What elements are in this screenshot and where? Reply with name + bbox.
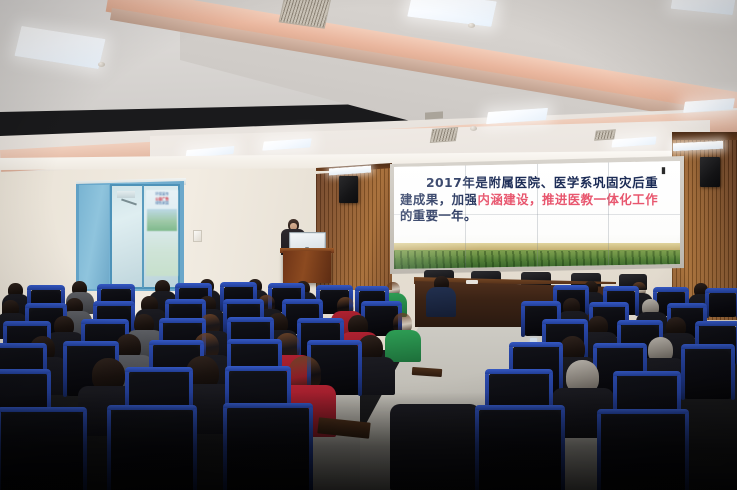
seat-frame-top — [175, 283, 212, 288]
lectern — [283, 251, 331, 283]
auditorium-seat[interactable] — [478, 408, 562, 490]
smoke-detector-icon — [470, 126, 477, 131]
seat-frame-top — [509, 342, 563, 347]
seat-frame-top — [603, 286, 639, 291]
wall-speaker-right-icon — [700, 157, 720, 187]
seat-frame-top — [597, 409, 689, 414]
seat-frame-top — [297, 318, 344, 323]
door-solid-panel — [79, 185, 109, 289]
seat-frame-top — [25, 303, 67, 308]
seat-frame-top — [27, 285, 65, 290]
seat-frame-top — [93, 301, 135, 306]
conference-hall-photo: 环保宣传 公益广告 绿色家园 2017年是附属医院、医学系巩固灾后重建成果，加强… — [0, 0, 737, 490]
seat-frame-top — [220, 282, 257, 287]
poster-line-3: 绿色家园 — [147, 201, 177, 206]
screen-corner-mark-icon: ▮ — [661, 166, 671, 175]
seat-frame-top — [475, 405, 565, 410]
smoke-detector-icon — [468, 23, 475, 28]
seat-frame-top — [282, 299, 323, 304]
wall-speaker-left-icon — [339, 176, 358, 203]
door-closer-bracket — [117, 191, 135, 198]
podium-laptop-display — [291, 234, 324, 248]
seat-frame-top — [63, 341, 119, 346]
poster-image-band — [147, 209, 177, 231]
auditorium-seat[interactable] — [110, 408, 194, 490]
slide-text-segment-highlight: 内涵建设，推进医教一体化工作 — [477, 192, 658, 207]
seat-frame-top — [227, 339, 282, 344]
audience-body — [426, 287, 456, 317]
seat-frame-top — [521, 301, 561, 306]
seat-frame-top — [593, 343, 647, 348]
seat-frame-top — [485, 369, 553, 374]
slide-photo-horizon — [394, 243, 680, 250]
air-vent-icon — [430, 127, 458, 143]
light-switch[interactable] — [193, 230, 202, 242]
door-mullion — [142, 185, 144, 288]
auditorium-seat[interactable] — [600, 412, 686, 490]
head-table-paper — [466, 280, 478, 284]
seat-frame-top — [165, 299, 206, 304]
seat-frame-top — [681, 344, 735, 349]
seat-frame-top — [225, 366, 291, 371]
seat-frame-top — [705, 288, 737, 293]
slide-text-segment-3: 的重要一年。 — [400, 208, 477, 223]
smoke-detector-icon — [98, 62, 105, 67]
seat-frame-top — [355, 286, 389, 291]
seat-frame-top — [613, 371, 681, 376]
seat-frame-top — [0, 369, 51, 374]
seat-frame-top — [3, 321, 51, 326]
projection-screen: 2017年是附属医院、医学系巩固灾后重建成果，加强内涵建设，推进医教一体化工作的… — [394, 161, 680, 269]
auditorium-seat[interactable] — [684, 347, 732, 399]
seat-frame-top — [617, 320, 663, 325]
seat-frame-top — [553, 285, 589, 290]
air-vent-icon — [425, 111, 443, 119]
seat-frame-top — [125, 367, 193, 372]
seat-frame-top — [107, 405, 197, 410]
audience-body — [390, 404, 480, 490]
slide-text-block: 2017年是附属医院、医学系巩固灾后重建成果，加强内涵建设，推进医教一体化工作的… — [400, 175, 658, 225]
auditorium-seat[interactable] — [708, 291, 737, 317]
seat-frame-top — [307, 340, 362, 345]
seat-frame-top — [0, 407, 87, 412]
seat-frame-top — [223, 299, 264, 304]
seat-frame-top — [227, 317, 274, 322]
seat-frame-top — [223, 403, 313, 408]
seat-frame-top — [589, 302, 629, 307]
door-poster: 环保宣传 公益广告 绿色家园 — [146, 190, 178, 276]
seat-frame-top — [0, 343, 47, 348]
seat-frame-top — [268, 283, 305, 288]
seat-frame-top — [653, 287, 689, 292]
seat-frame-top — [667, 303, 707, 308]
air-vent-icon — [594, 129, 616, 141]
seat-frame-top — [542, 319, 588, 324]
seat-frame-top — [149, 340, 204, 345]
seat-frame-top — [695, 321, 737, 326]
auditorium-seat[interactable] — [226, 406, 310, 490]
audience-body — [385, 330, 421, 362]
seat-frame-top — [361, 301, 402, 306]
seat-frame-top — [97, 284, 135, 289]
seat-frame-top — [159, 318, 206, 323]
seat-frame-top — [81, 319, 129, 324]
auditorium-seat[interactable] — [0, 410, 84, 490]
seat-frame-top — [316, 285, 353, 290]
